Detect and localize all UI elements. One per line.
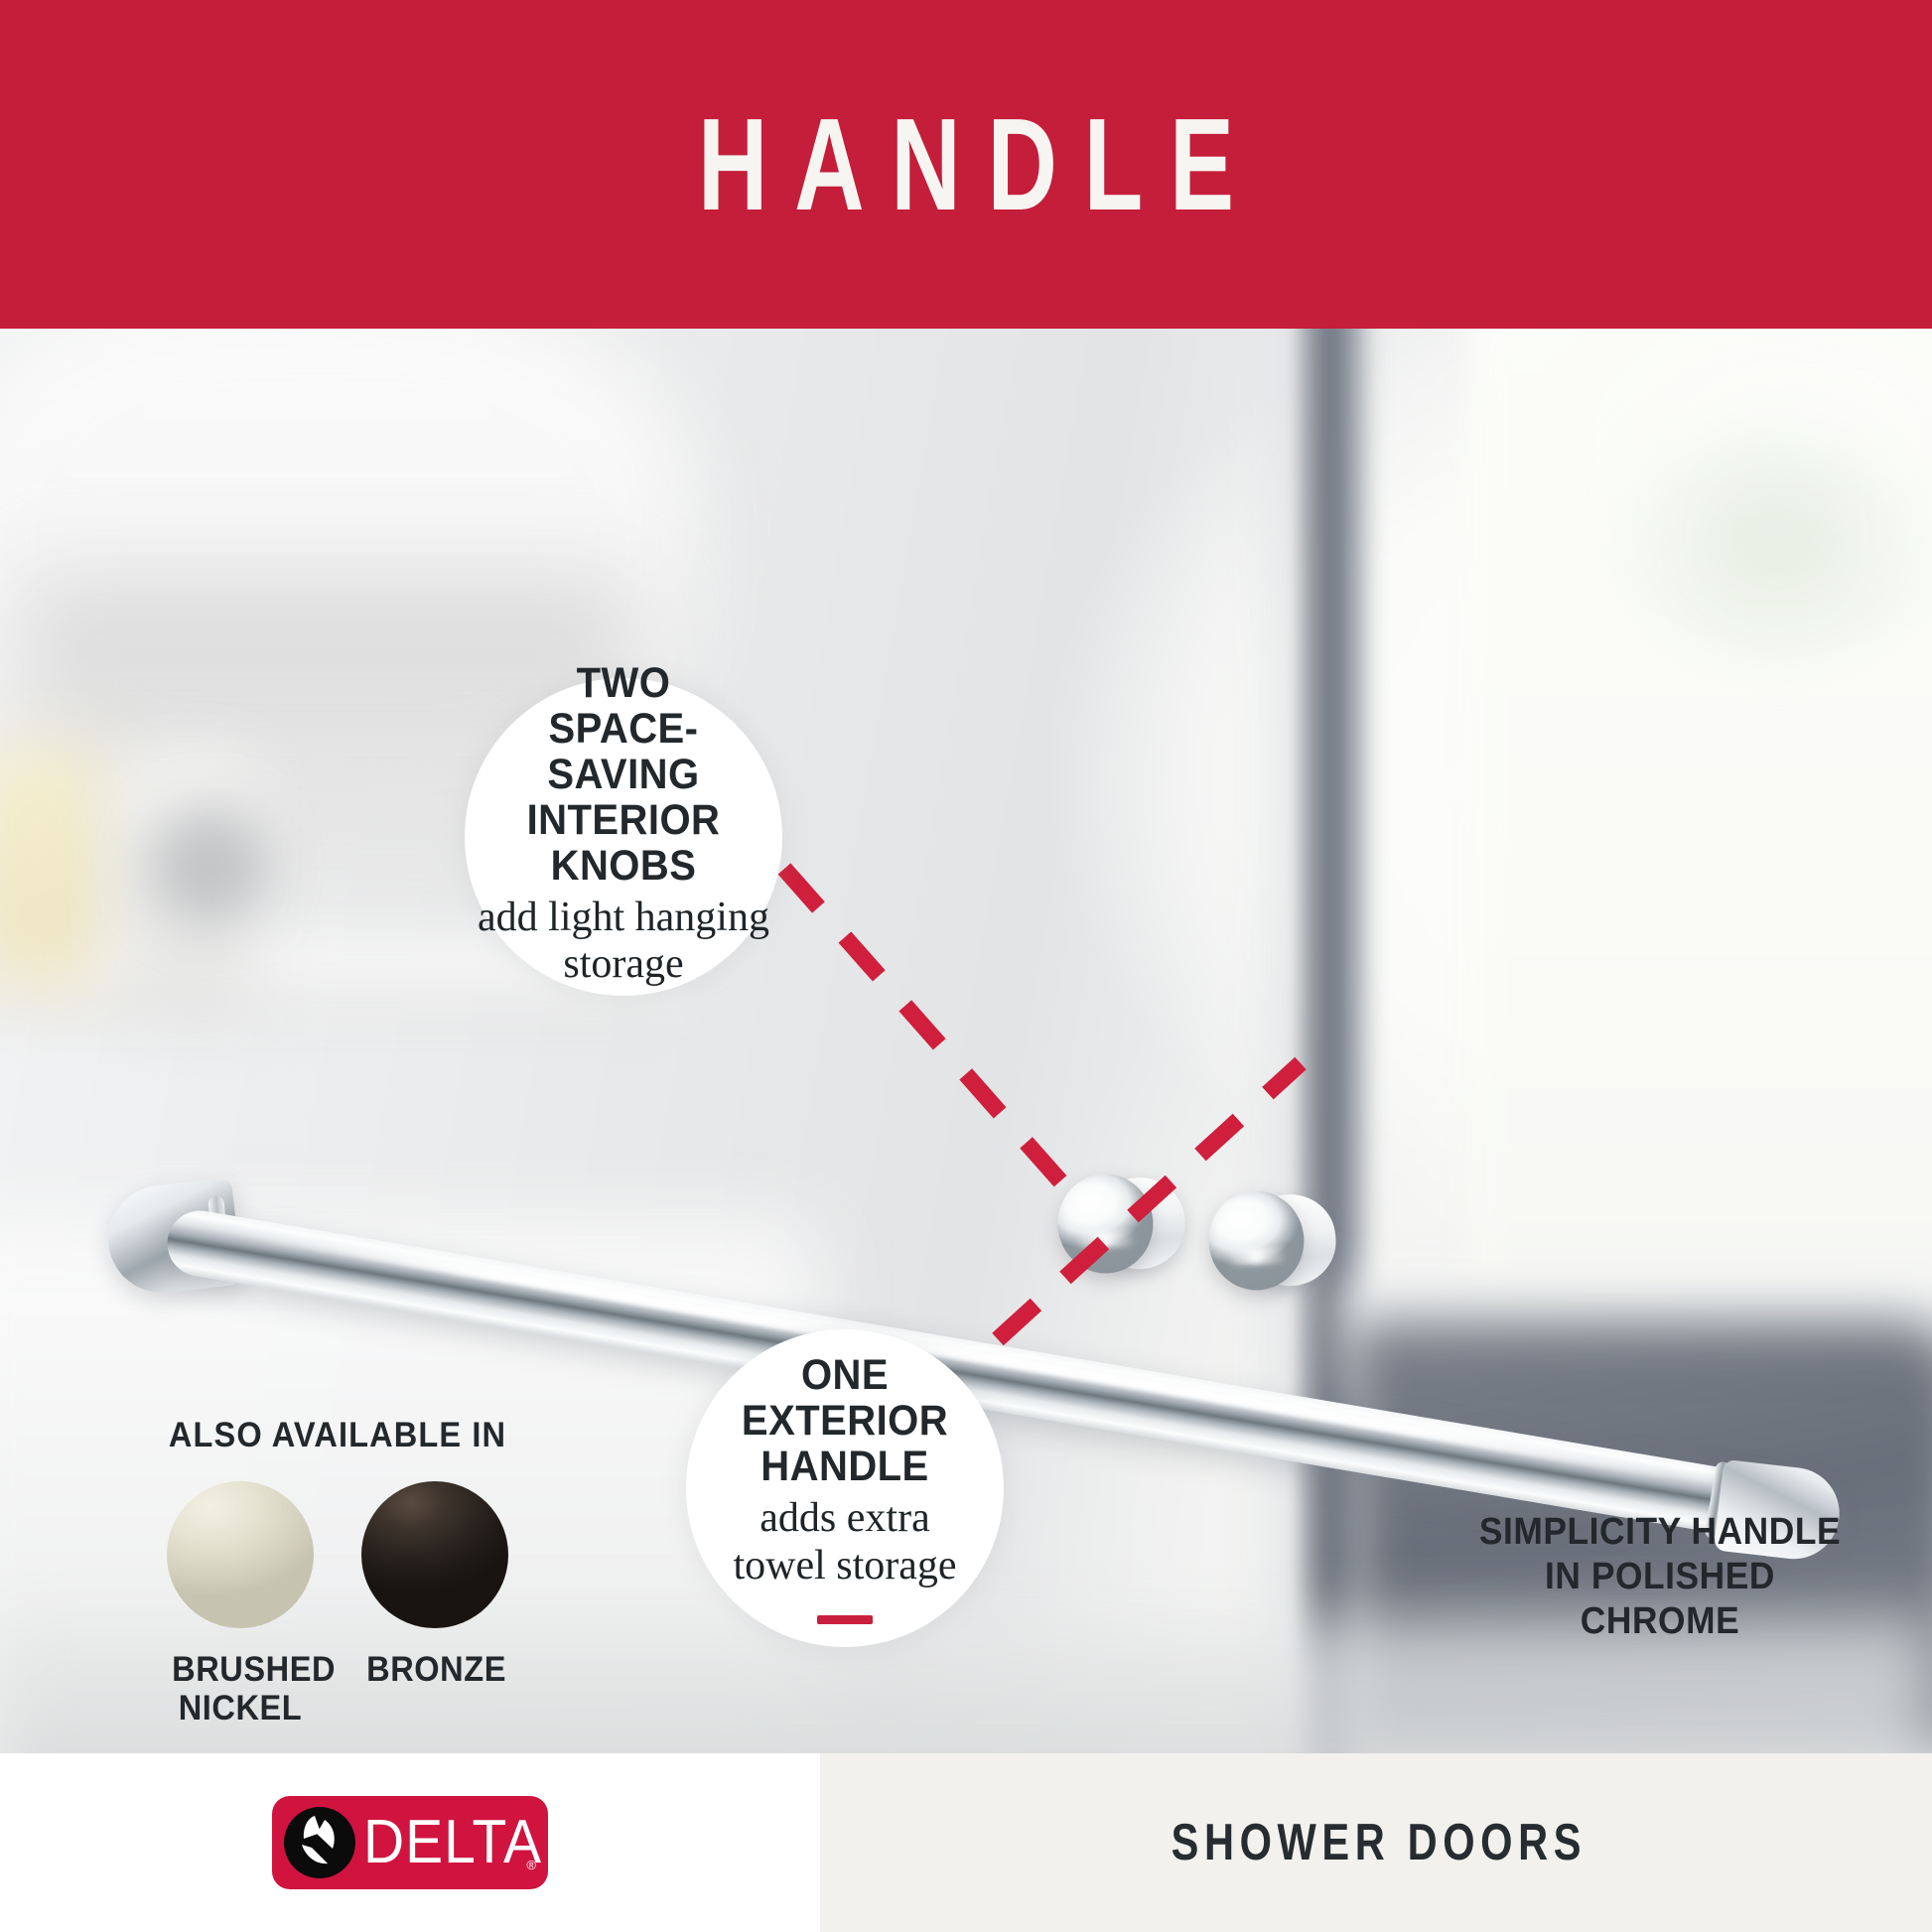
callout-headline-line: SPACE-SAVING [476,706,771,797]
registered-trademark-icon: ® [526,1858,536,1872]
callout-exterior-handle: ONE EXTERIOR HANDLE adds extra towel sto… [686,1329,1004,1647]
callout-subtext: add light hanging storage [478,895,769,988]
product-photo: TWO SPACE-SAVING INTERIOR KNOBS add ligh… [0,329,1932,1753]
product-caption: SIMPLICITY HANDLE IN POLISHED CHROME [1475,1510,1845,1643]
footer-category-panel: SHOWER DOORS [820,1753,1932,1932]
callout-subtext-line: towel storage [733,1543,956,1589]
callout-subtext-line: add light hanging [478,895,769,941]
swatch-bronze[interactable] [361,1481,508,1628]
finish-label-line: NICKEL [172,1689,309,1727]
callout-subtext-line: storage [478,941,769,988]
finish-option-brushed-nickel[interactable]: BRUSHED NICKEL [167,1481,314,1727]
footer-bar: DELTA ® SHOWER DOORS [0,1753,1932,1932]
finish-label: BRUSHED NICKEL [172,1650,309,1727]
footer-category-label: SHOWER DOORS [1166,1813,1587,1872]
callout-accent-dash [817,1615,873,1624]
callout-interior-knobs: TWO SPACE-SAVING INTERIOR KNOBS add ligh… [465,678,782,996]
product-caption-line: IN POLISHED [1475,1555,1845,1599]
finish-label: BRONZE [366,1650,503,1689]
finish-options-title: ALSO AVAILABLE IN [144,1416,532,1455]
background-bottle-amber [0,746,109,984]
callout-subtext-line: adds extra [733,1495,956,1542]
finish-options: ALSO AVAILABLE IN BRUSHED NICKEL BRONZE [129,1416,546,1727]
callout-subtext: adds extra towel storage [733,1495,956,1588]
page-title: HANDLE [671,99,1260,230]
header-banner: HANDLE [0,0,1932,329]
finish-swatch-row: BRUSHED NICKEL BRONZE [129,1481,546,1727]
callout-headline-line: HANDLE [697,1444,993,1489]
delta-wordmark: DELTA [363,1812,542,1873]
swatch-brushed-nickel[interactable] [167,1481,314,1628]
delta-logo[interactable]: DELTA ® [272,1796,548,1889]
callout-headline-line: INTERIOR KNOBS [476,797,771,889]
callout-headline: TWO SPACE-SAVING INTERIOR KNOBS [476,660,771,889]
callout-headline-line: TWO [476,660,771,706]
footer-brand-panel: DELTA ® [0,1753,820,1932]
delta-mark-svg [284,1807,355,1878]
background-knob-blur [149,805,268,924]
finish-option-bronze[interactable]: BRONZE [361,1481,508,1727]
finish-label-line: BRONZE [366,1650,503,1689]
callout-headline-line: ONE EXTERIOR [697,1352,993,1444]
delta-triangle-icon [284,1807,355,1878]
product-caption-line: CHROME [1475,1599,1845,1644]
poster-canvas: HANDLE [0,0,1932,1932]
callout-headline: ONE EXTERIOR HANDLE [697,1352,993,1489]
background-window-foliage [1608,388,1932,686]
finish-label-line: BRUSHED [172,1650,309,1689]
product-caption-line: SIMPLICITY HANDLE [1475,1510,1845,1555]
